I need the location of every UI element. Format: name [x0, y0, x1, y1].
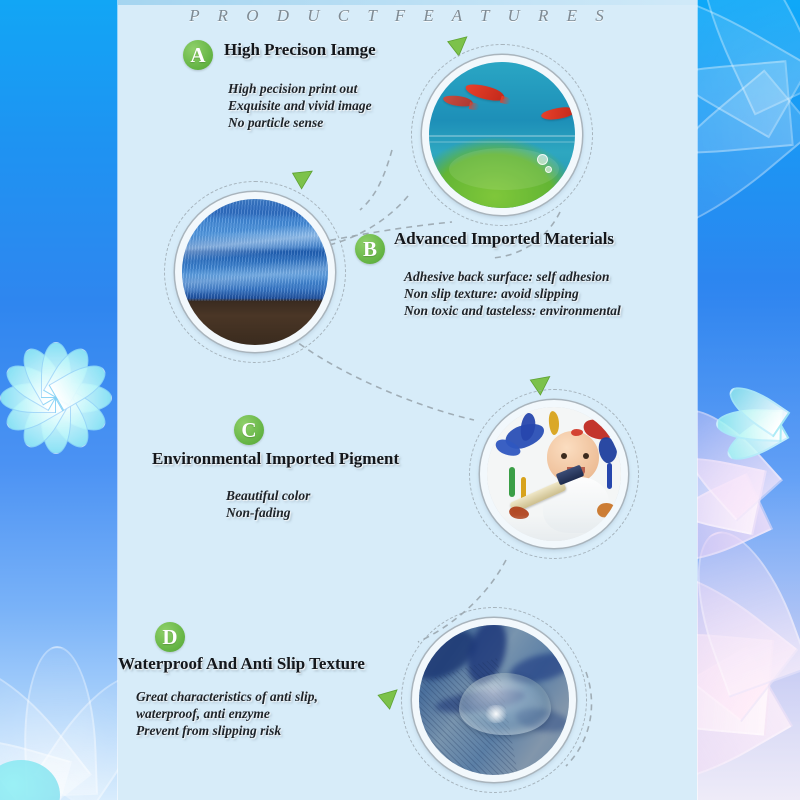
feature-title-d: Waterproof And Anti Slip Texture — [118, 654, 365, 674]
photo-c-baby — [480, 400, 628, 548]
badge-letter-a: A — [183, 40, 213, 70]
feature-title-a: High Precison Iamge — [224, 40, 376, 60]
page-title: P R O D U C T F E A T U R E S — [0, 6, 800, 26]
photo-c-image — [487, 407, 621, 541]
badge-letter-c: C — [234, 415, 264, 445]
badge-letter-d: D — [155, 622, 185, 652]
photo-d-image — [419, 625, 569, 775]
badge-letter-b: B — [355, 234, 385, 264]
photo-b-image — [182, 199, 328, 345]
photo-a-koi — [422, 55, 582, 215]
feature-lines-b: Adhesive back surface: self adhesion Non… — [404, 268, 621, 319]
feature-title-b: Advanced Imported Materials — [394, 229, 614, 249]
panel-top-strip — [118, 0, 697, 5]
feature-lines-c: Beautiful color Non-fading — [226, 487, 310, 521]
photo-d-droplet — [412, 618, 576, 782]
feature-title-c: Environmental Imported Pigment — [152, 449, 399, 469]
infographic-stage: P R O D U C T F E A T U R E S A High Pre… — [0, 0, 800, 800]
feature-lines-a: High pecision print out Exquisite and vi… — [228, 80, 372, 131]
photo-b-fabric — [175, 192, 335, 352]
photo-a-image — [429, 62, 575, 208]
feature-lines-d: Great characteristics of anti slip, wate… — [136, 688, 318, 739]
